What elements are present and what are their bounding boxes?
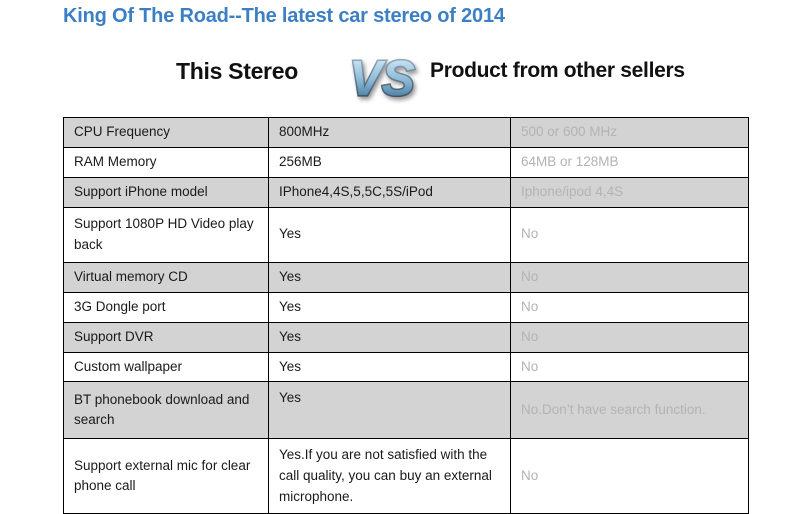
row-ours: IPhone4,4S,5,5C,5S/iPod [269,177,511,207]
vs-icon: VS VS [340,44,424,110]
table-row: RAM Memory 256MB 64MB or 128MB [64,147,749,177]
table-row: Support external mic for clear phone cal… [64,439,749,514]
row-ours: Yes [269,292,511,322]
comparison-table-body: CPU Frequency 800MHz 500 or 600 MHz RAM … [64,118,749,514]
row-feature: CPU Frequency [64,118,269,148]
row-theirs: No [511,262,749,292]
row-feature: Support iPhone model [64,177,269,207]
row-theirs: No [511,207,749,262]
table-row: 3G Dongle port Yes No [64,292,749,322]
row-ours: Yes.If you are not satisfied with the ca… [269,439,511,514]
table-row: Support DVR Yes No [64,322,749,352]
table-row: Virtual memory CD Yes No [64,262,749,292]
row-ours: 256MB [269,147,511,177]
row-ours: Yes [269,352,511,382]
page-title: King Of The Road--The latest car stereo … [63,5,505,28]
row-feature: Support external mic for clear phone cal… [64,439,269,514]
table-row: Custom wallpaper Yes No [64,352,749,382]
this-stereo-label: This Stereo [176,58,298,85]
versus-header: This Stereo [0,44,800,110]
row-theirs: 500 or 600 MHz [511,118,749,148]
row-theirs: 64MB or 128MB [511,147,749,177]
table-row: CPU Frequency 800MHz 500 or 600 MHz [64,118,749,148]
table-row: Support 1080P HD Video play back Yes No [64,207,749,262]
row-theirs: No [511,322,749,352]
comparison-table: CPU Frequency 800MHz 500 or 600 MHz RAM … [63,117,749,514]
row-feature: Virtual memory CD [64,262,269,292]
row-ours: 800MHz [269,118,511,148]
row-ours: Yes [269,322,511,352]
row-ours: Yes [269,262,511,292]
row-theirs: No [511,439,749,514]
table-row: BT phonebook download and search Yes No.… [64,382,749,439]
row-feature: Support DVR [64,322,269,352]
row-theirs: No [511,292,749,322]
row-theirs: No.Don’t have search function. [511,382,749,439]
row-feature: RAM Memory [64,147,269,177]
row-feature: Support 1080P HD Video play back [64,207,269,262]
table-row: Support iPhone model IPhone4,4S,5,5C,5S/… [64,177,749,207]
comparison-page: King Of The Road--The latest car stereo … [0,0,800,480]
row-ours: Yes [269,207,511,262]
svg-text:VS: VS [349,52,415,106]
row-feature: Custom wallpaper [64,352,269,382]
row-feature: BT phonebook download and search [64,382,269,439]
row-theirs: Iphone/ipod 4,4S [511,177,749,207]
other-sellers-label: Product from other sellers [430,59,685,83]
row-theirs: No [511,352,749,382]
row-feature: 3G Dongle port [64,292,269,322]
row-ours: Yes [269,382,511,439]
